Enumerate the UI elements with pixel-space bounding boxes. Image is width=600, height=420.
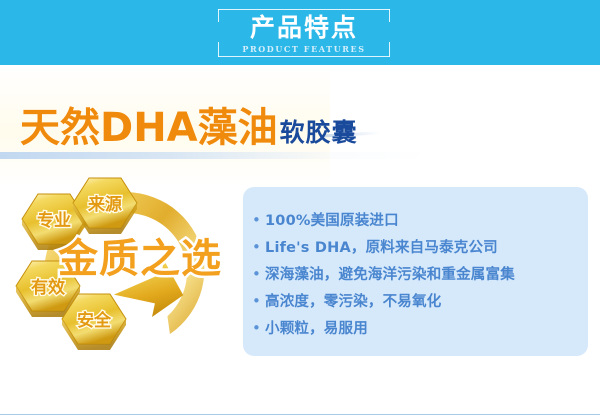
emblem-center-text: 金质之选 [57, 236, 222, 282]
list-item: • 深海藻油，避免海洋污染和重金属富集 [252, 261, 600, 288]
banner-frame-bottom-edge [218, 56, 390, 57]
feature-text: Life's DHA，原料来自马泰克公司 [265, 235, 498, 262]
list-item: • 100%美国原装进口 [252, 207, 600, 234]
bullet-dot-icon: • [252, 288, 265, 315]
page-title-main: 天然DHA藻油 [20, 105, 278, 151]
bullet-dot-icon: • [252, 234, 265, 261]
banner-title: 产品特点 [218, 13, 390, 43]
emblem-hexagon-label: 来源 [87, 194, 122, 215]
emblem-hexagon-label: 安全 [77, 310, 112, 331]
emblem-svg: 专业 来源 有效 安全 金质之选 [8, 176, 236, 358]
product-features-page: 产品特点 PRODUCT FEATURES 天然DHA藻油软胶囊 [0, 0, 600, 420]
list-item: • 小颗粒，易服用 [252, 315, 600, 342]
feature-text: 深海藻油，避免海洋污染和重金属富集 [265, 262, 515, 289]
gold-quality-emblem: 专业 来源 有效 安全 金质之选 [8, 176, 236, 358]
page-title-sub: 软胶囊 [280, 118, 358, 147]
bullet-dot-icon: • [252, 315, 265, 342]
feature-text: 100%美国原装进口 [265, 208, 399, 235]
feature-text: 小颗粒，易服用 [265, 316, 368, 343]
banner-frame: 产品特点 PRODUCT FEATURES [218, 9, 390, 57]
bullet-dot-icon: • [252, 207, 265, 234]
banner-subtitle: PRODUCT FEATURES [218, 44, 390, 54]
emblem-hexagon-label: 专业 [37, 210, 71, 231]
blue-streak-decoration [0, 152, 430, 159]
list-item: • Life's DHA，原料来自马泰克公司 [252, 234, 600, 261]
feature-text: 高浓度，零污染，不易氧化 [265, 289, 441, 316]
features-list: • 100%美国原装进口 • Life's DHA，原料来自马泰克公司 • 深海… [252, 207, 600, 342]
list-item: • 高浓度，零污染，不易氧化 [252, 288, 600, 315]
bullet-dot-icon: • [252, 261, 265, 288]
header-banner: 产品特点 PRODUCT FEATURES [0, 0, 600, 65]
page-title: 天然DHA藻油软胶囊 [20, 108, 358, 148]
banner-frame-top-edge [218, 9, 390, 10]
bottom-divider [0, 414, 600, 415]
